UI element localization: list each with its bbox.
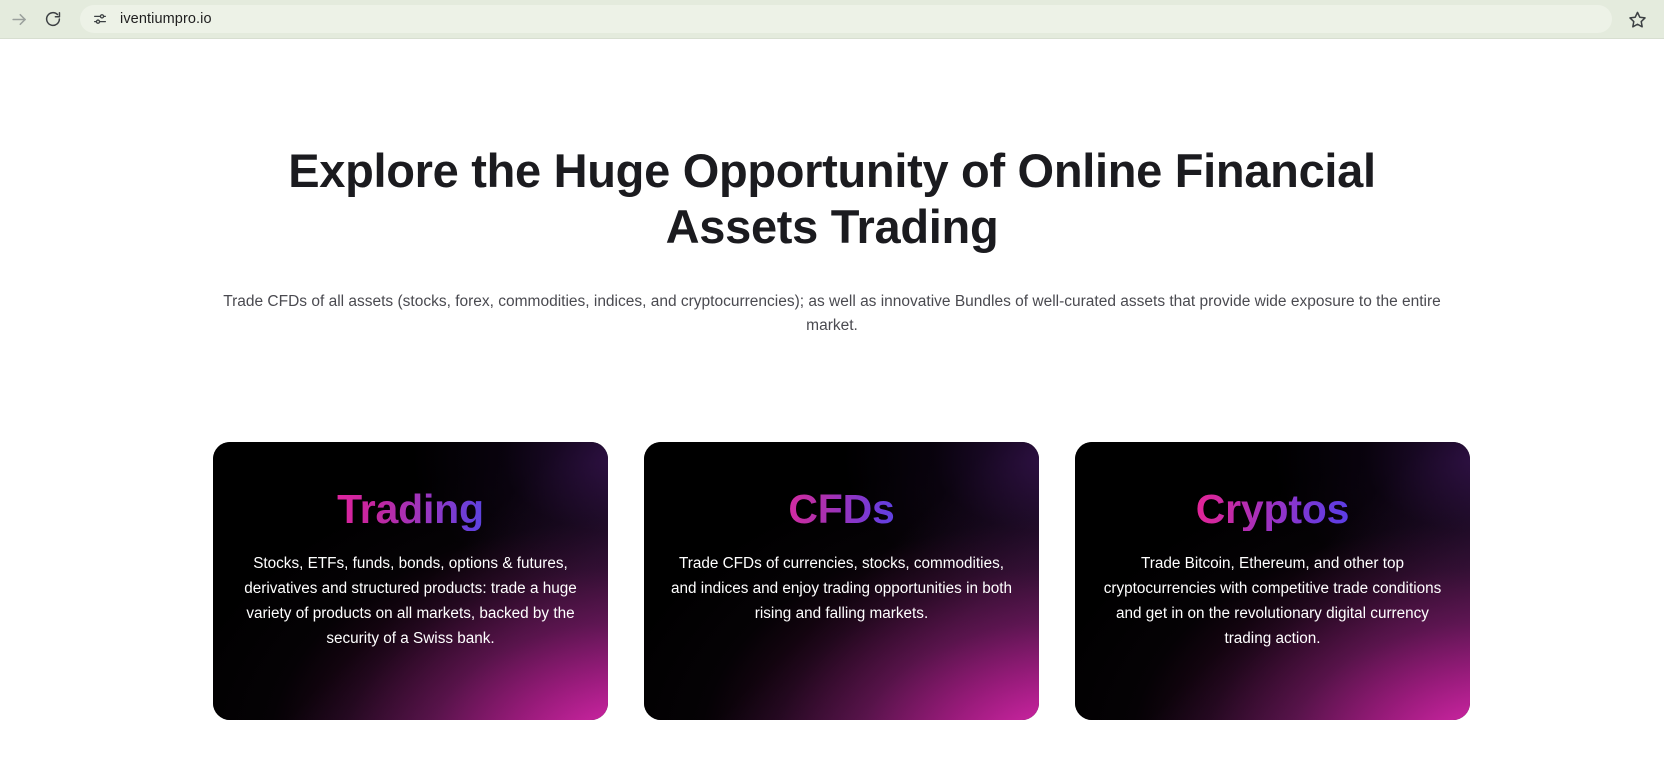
card-title: CFDs [788,488,894,531]
address-bar[interactable]: iventiumpro.io [80,5,1612,33]
hero-subtitle: Trade CFDs of all assets (stocks, forex,… [207,290,1457,338]
bookmark-button[interactable] [1622,4,1652,34]
feature-card-cfds[interactable]: CFDs Trade CFDs of currencies, stocks, c… [644,442,1039,720]
card-description: Trade Bitcoin, Ethereum, and other top c… [1097,552,1448,652]
card-description: Trade CFDs of currencies, stocks, commod… [666,552,1017,627]
page-title: Explore the Huge Opportunity of Online F… [212,143,1452,256]
page-content: Explore the Huge Opportunity of Online F… [0,39,1664,775]
reload-button[interactable] [38,4,68,34]
feature-card-list: Trading Stocks, ETFs, funds, bonds, opti… [213,442,1471,720]
card-description: Stocks, ETFs, funds, bonds, options & fu… [235,552,586,652]
url-text[interactable]: iventiumpro.io [120,11,212,27]
hero-section: Explore the Huge Opportunity of Online F… [207,143,1457,338]
feature-card-cryptos[interactable]: Cryptos Trade Bitcoin, Ethereum, and oth… [1075,442,1470,720]
forward-button[interactable] [4,4,34,34]
reload-icon [44,10,62,28]
tune-settings-icon[interactable] [90,9,110,29]
card-title: Cryptos [1196,488,1350,531]
card-title: Trading [337,488,484,531]
forward-arrow-icon [10,10,29,29]
feature-card-trading[interactable]: Trading Stocks, ETFs, funds, bonds, opti… [213,442,608,720]
star-icon [1628,10,1647,29]
browser-toolbar: iventiumpro.io [0,0,1664,38]
